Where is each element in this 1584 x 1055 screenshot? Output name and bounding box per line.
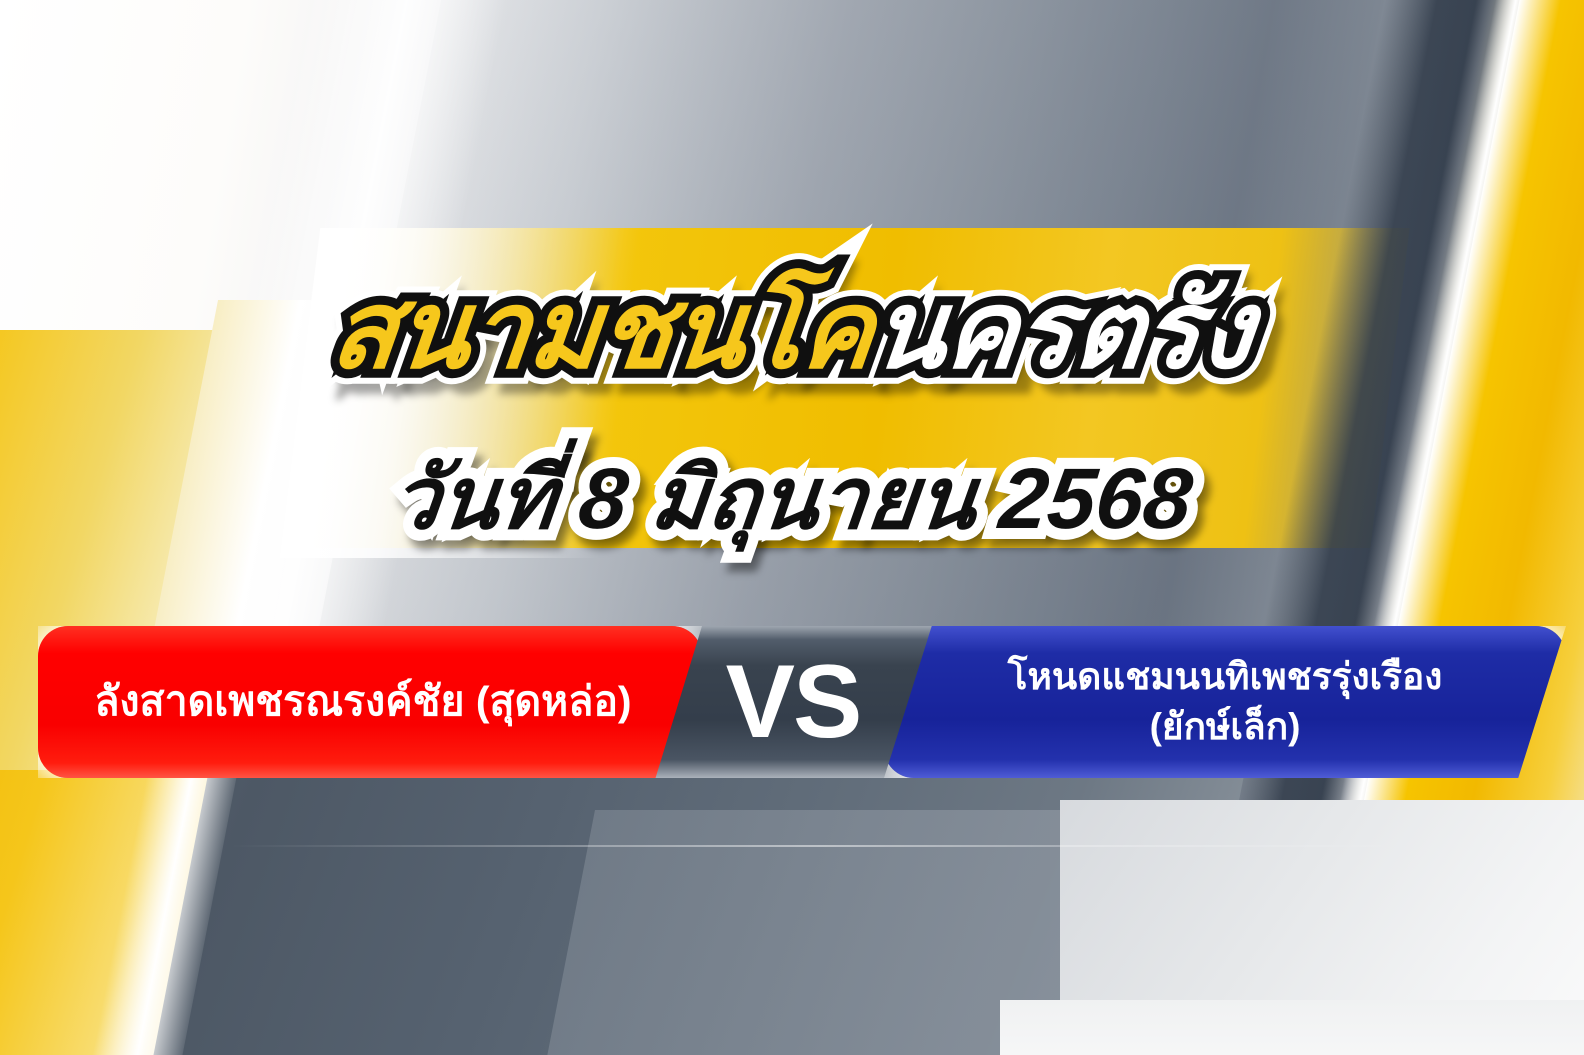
poster-title: สนามชนโคนครตรัง สนามชนโคนครตรัง สนามชนโค…: [0, 272, 1584, 389]
blue-team-name-line2: (ยักษ์เล็ก): [1150, 702, 1301, 752]
title-part-yellow: สนามชนโค: [326, 269, 880, 390]
match-poster: สนามชนโคนครตรัง สนามชนโคนครตรัง สนามชนโค…: [0, 0, 1584, 1055]
background-bottom-right-panel-lower: [1000, 1000, 1584, 1055]
poster-date: วันที่ 8 มิถุนายน 2568 วันที่ 8 มิถุนายน…: [0, 452, 1584, 547]
blue-team-name-line1: โหนดแชมนนทิเพชรรุ่งเรือง: [1008, 652, 1443, 702]
red-team-name: ลังสาดเพชรณรงค์ชัย (สุดหล่อ): [38, 626, 688, 778]
background-horizontal-highlight: [230, 845, 1410, 847]
date-fill-layer: วันที่ 8 มิถุนายน 2568: [387, 452, 1197, 547]
title-part-white: นครตรัง: [867, 269, 1259, 390]
title-fill-layer: สนามชนโคนครตรัง: [326, 272, 1258, 389]
blue-team-name: โหนดแชมนนทิเพชรรุ่งเรือง (ยักษ์เล็ก): [884, 626, 1566, 778]
